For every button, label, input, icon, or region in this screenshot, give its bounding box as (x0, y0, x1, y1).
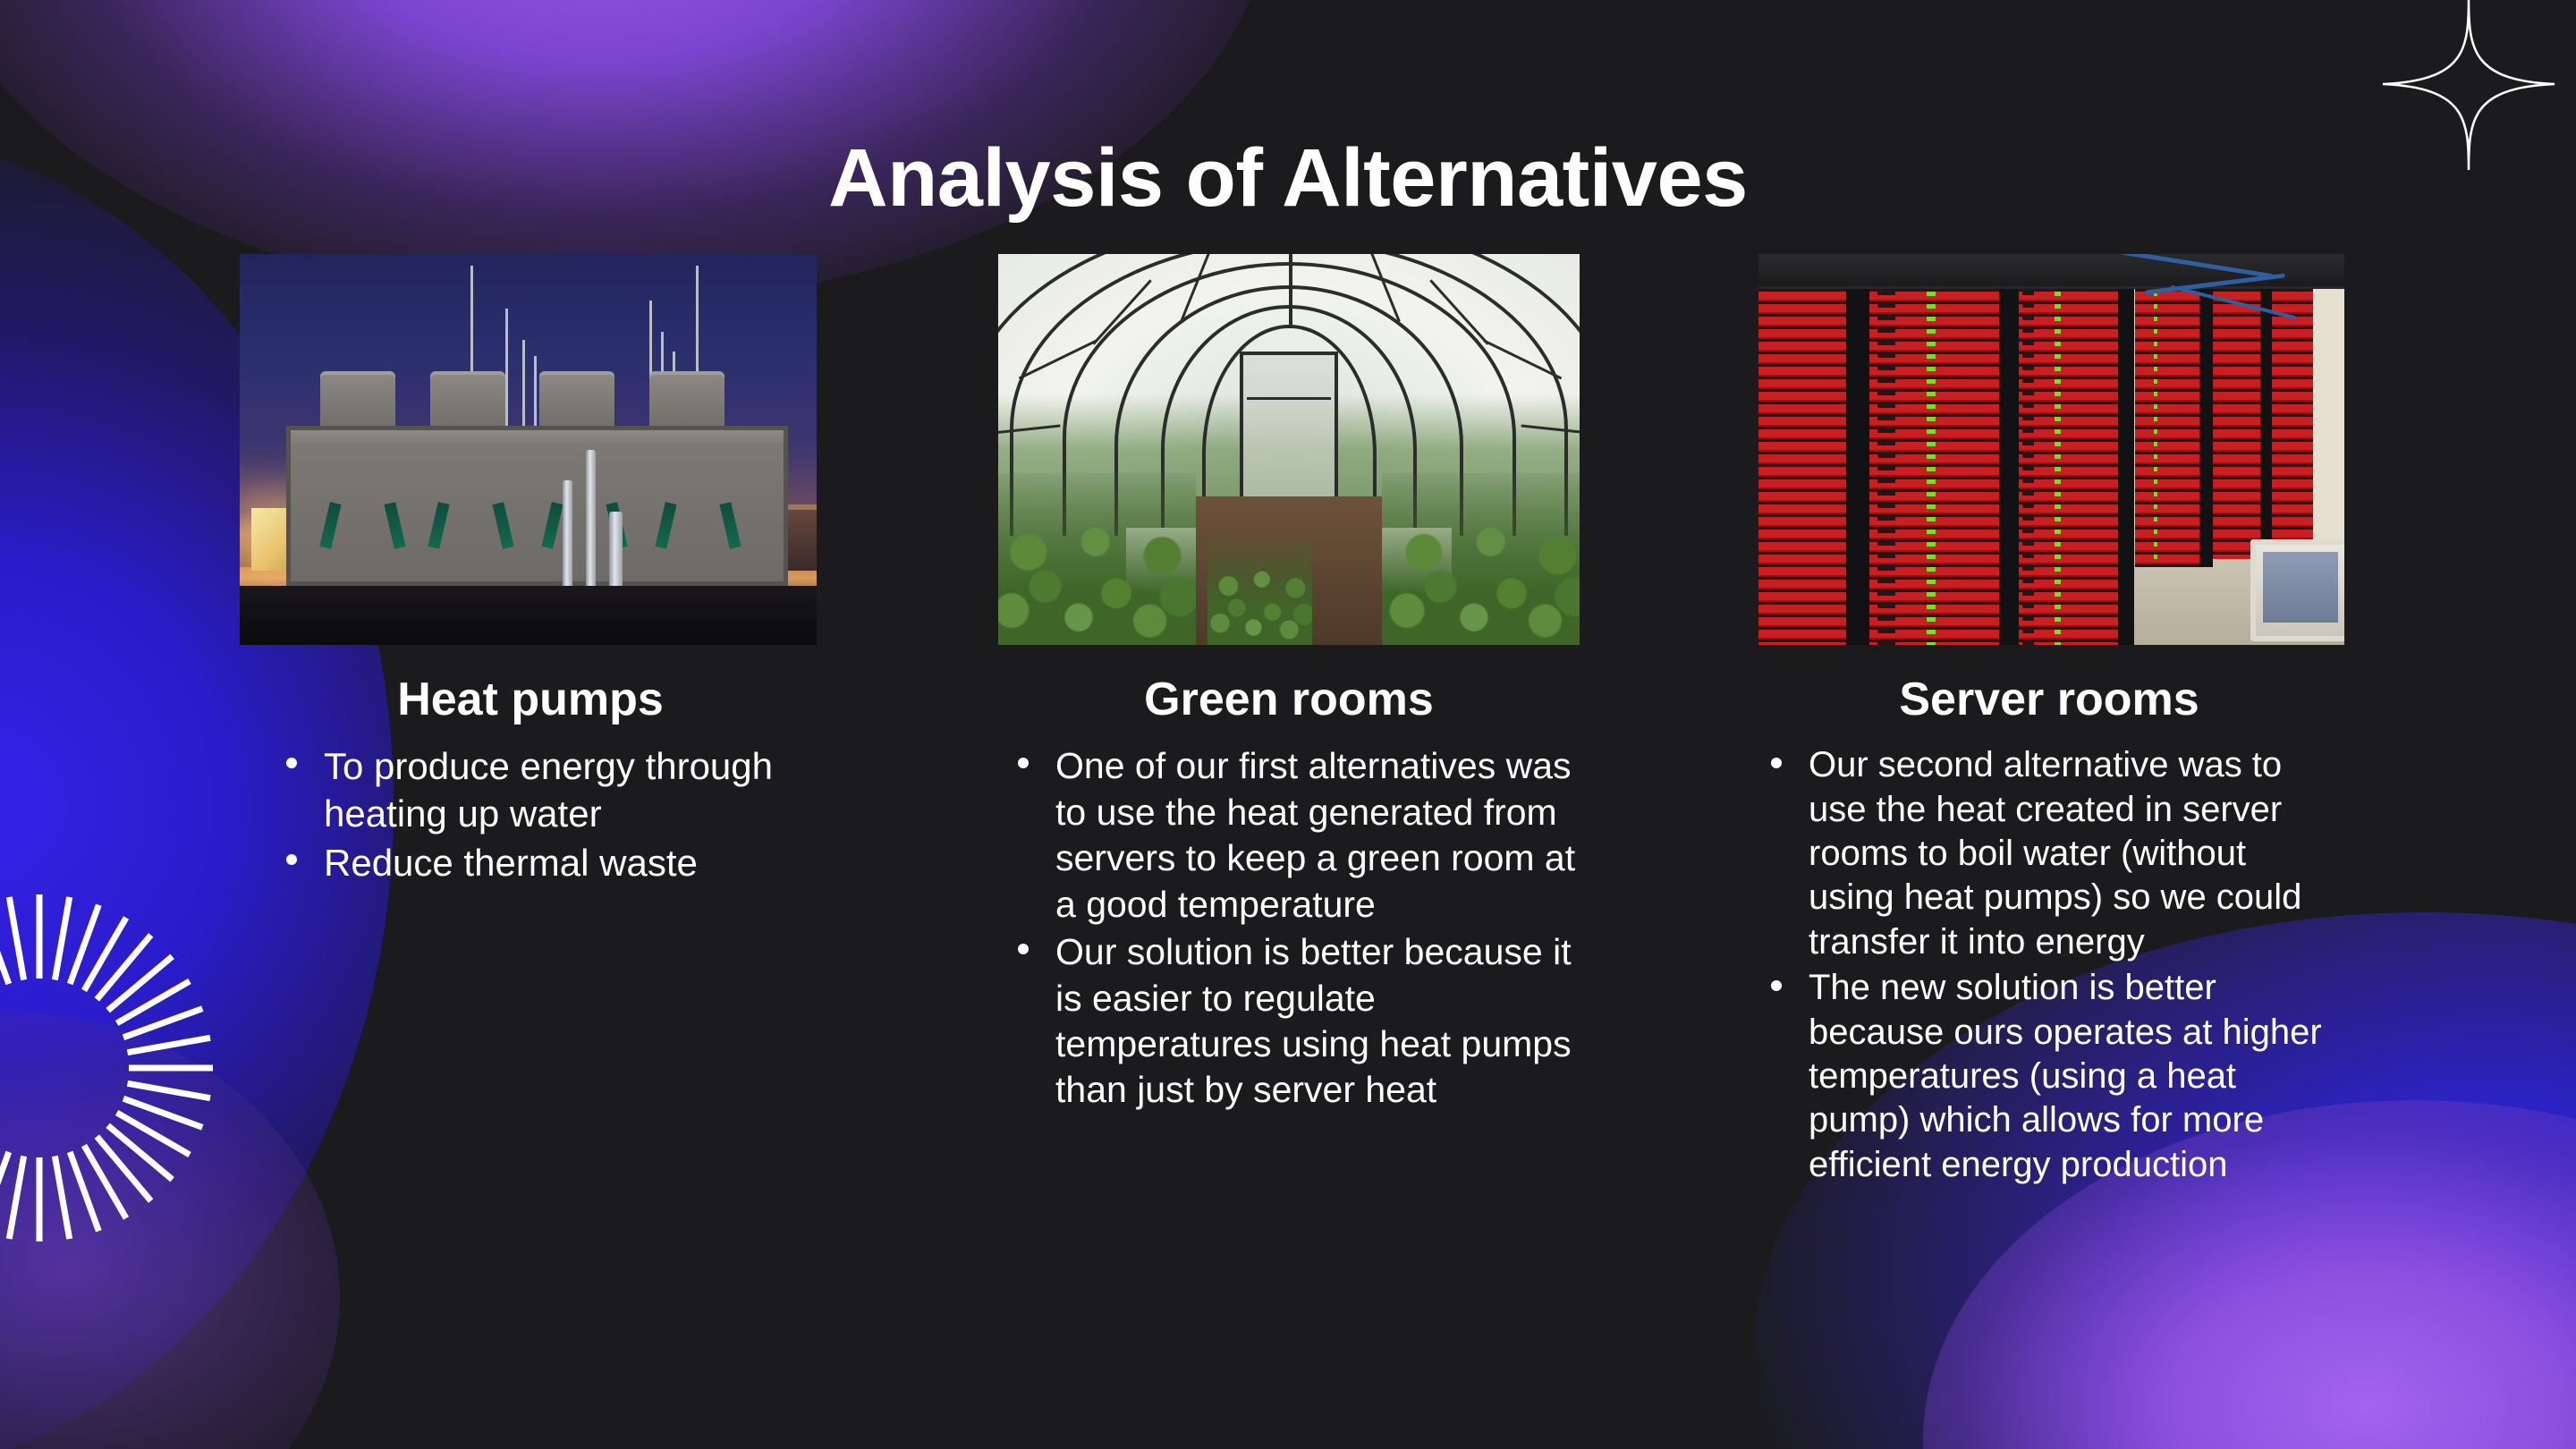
bullet-dot-icon (1018, 944, 1029, 954)
list-item: Reduce thermal waste (274, 840, 821, 887)
column-heading: Heat pumps (240, 674, 821, 725)
column-bullet-list: To produce energy through heating up wat… (240, 743, 821, 886)
column-heading: Green rooms (998, 674, 1580, 725)
list-item: Our solution is better because it is eas… (1005, 929, 1580, 1114)
alternatives-columns: Heat pumps To produce energy through hea… (0, 254, 2576, 1449)
greenhouse-door (1240, 352, 1339, 504)
bullet-dot-icon (1018, 758, 1029, 768)
bullet-text: The new solution is better because ours … (1809, 968, 2322, 1184)
column-server-rooms: Server rooms Our second alternative was … (1758, 254, 2340, 1189)
list-item: To produce energy through heating up wat… (274, 743, 821, 837)
bullet-text: Our solution is better because it is eas… (1055, 931, 1572, 1110)
column-heat-pumps: Heat pumps To produce energy through hea… (240, 254, 821, 888)
column-heading: Server rooms (1758, 674, 2340, 725)
crt-monitor (2250, 539, 2344, 641)
green-rooms-photo (998, 254, 1580, 645)
bullet-text: To produce energy through heating up wat… (324, 745, 773, 835)
bullet-dot-icon (286, 854, 297, 865)
column-green-rooms: Green rooms One of our first alternative… (998, 254, 1580, 1115)
bullet-dot-icon (1771, 758, 1782, 768)
presentation-slide: Analysis of Alternatives (0, 0, 2576, 1449)
bullet-text: Reduce thermal waste (324, 842, 698, 884)
server-rooms-photo (1758, 254, 2344, 645)
heat-pumps-photo (240, 254, 817, 645)
bullet-text: Our second alternative was to use the he… (1809, 745, 2301, 962)
bullet-dot-icon (286, 758, 297, 768)
list-item: Our second alternative was to use the he… (1758, 743, 2340, 964)
bullet-text: One of our first alternatives was to use… (1055, 745, 1575, 924)
list-item: The new solution is better because ours … (1758, 966, 2340, 1187)
column-bullet-list: Our second alternative was to use the he… (1758, 743, 2340, 1187)
page-title: Analysis of Alternatives (0, 136, 2576, 222)
bullet-dot-icon (1771, 980, 1782, 991)
list-item: One of our first alternatives was to use… (1005, 743, 1580, 928)
column-bullet-list: One of our first alternatives was to use… (998, 743, 1580, 1114)
